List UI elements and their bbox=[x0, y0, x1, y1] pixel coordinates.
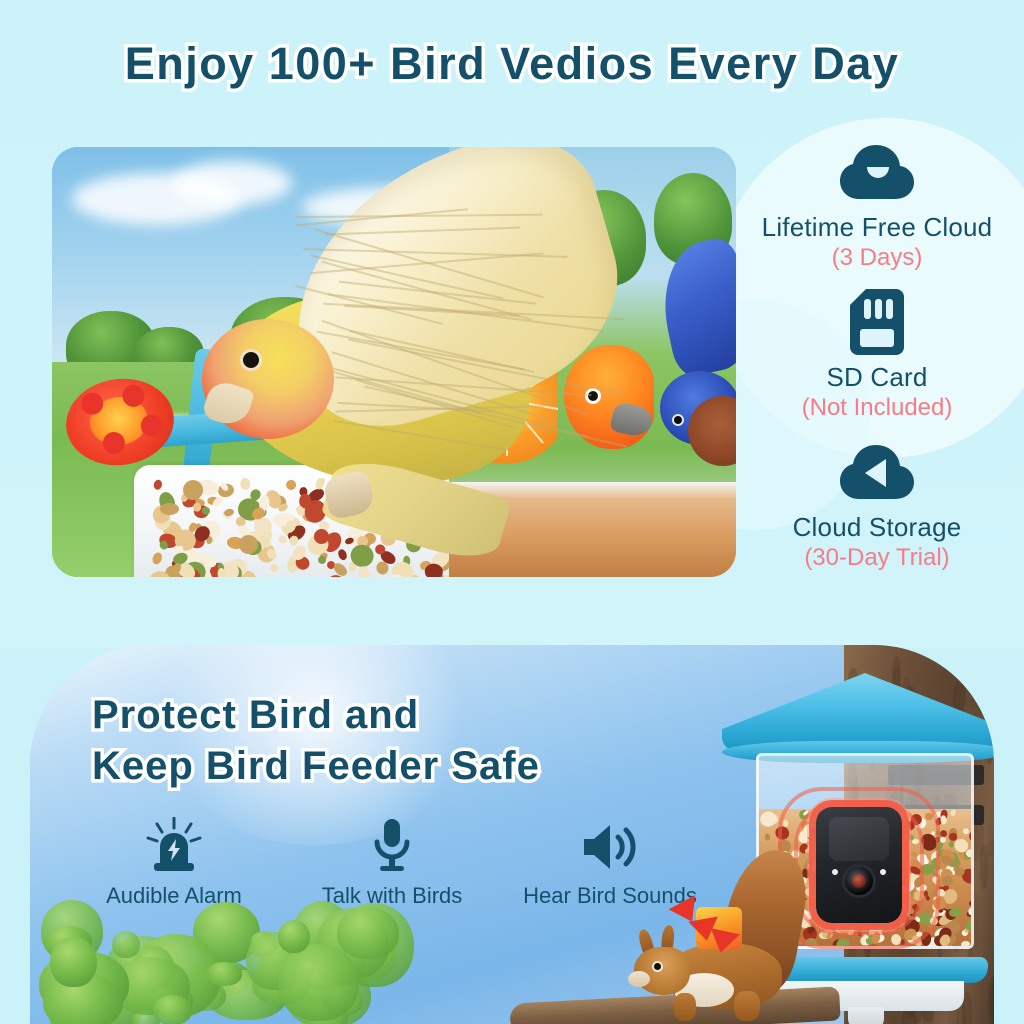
squirrel-leg bbox=[734, 991, 760, 1021]
cloud-puff bbox=[172, 161, 292, 205]
bottom-section: Protect Bird and Keep Bird Feeder Safe bbox=[30, 645, 994, 1024]
squirrel-eye bbox=[652, 961, 663, 972]
bluebird-eye bbox=[672, 414, 684, 426]
feeder-stem bbox=[848, 1007, 884, 1024]
collage-panel-bluebird bbox=[654, 147, 736, 577]
cloud-play-icon bbox=[744, 440, 1010, 504]
feature-title: SD Card bbox=[744, 362, 1010, 393]
feature-title: Lifetime Free Cloud bbox=[744, 212, 1010, 243]
cloud-smile-icon bbox=[744, 140, 1010, 204]
feature-subtitle: (Not Included) bbox=[744, 394, 1010, 422]
microphone-icon bbox=[304, 815, 480, 873]
siren-alarm-icon bbox=[86, 815, 262, 873]
cloud-feature-list: Lifetime Free Cloud (3 Days) SD Card (No… bbox=[744, 140, 1010, 590]
feature-sd-card: SD Card (Not Included) bbox=[744, 290, 1010, 422]
feature-lifetime-free-cloud: Lifetime Free Cloud (3 Days) bbox=[744, 140, 1010, 272]
feeder-roof bbox=[722, 673, 994, 751]
section-title-line-1: Protect Bird and bbox=[92, 690, 540, 741]
section-title-line-2: Keep Bird Feeder Safe bbox=[92, 741, 540, 792]
tree-foliage bbox=[30, 894, 450, 1024]
sd-card-icon bbox=[744, 290, 1010, 354]
squirrel-snout bbox=[628, 971, 650, 987]
feature-cloud-storage: Cloud Storage (30-Day Trial) bbox=[744, 440, 1010, 572]
squirrel-leg bbox=[674, 993, 696, 1021]
camera-lens bbox=[842, 864, 876, 898]
product-feature-graphic: Enjoy 100+ Bird Vedios Every Day bbox=[0, 0, 1024, 1024]
top-section: Enjoy 100+ Bird Vedios Every Day bbox=[0, 0, 1024, 648]
section-title: Protect Bird and Keep Bird Feeder Safe bbox=[92, 690, 540, 792]
hero-photo-collage bbox=[52, 147, 736, 577]
speaker-sound-icon bbox=[522, 815, 698, 873]
page-title: Enjoy 100+ Bird Vedios Every Day bbox=[0, 38, 1024, 90]
camera-screen bbox=[829, 817, 889, 861]
feature-subtitle: (3 Days) bbox=[744, 244, 1010, 272]
feature-subtitle: (30-Day Trial) bbox=[744, 544, 1010, 572]
alarm-burst-graphic bbox=[672, 897, 762, 961]
feature-title: Cloud Storage bbox=[744, 512, 1010, 543]
